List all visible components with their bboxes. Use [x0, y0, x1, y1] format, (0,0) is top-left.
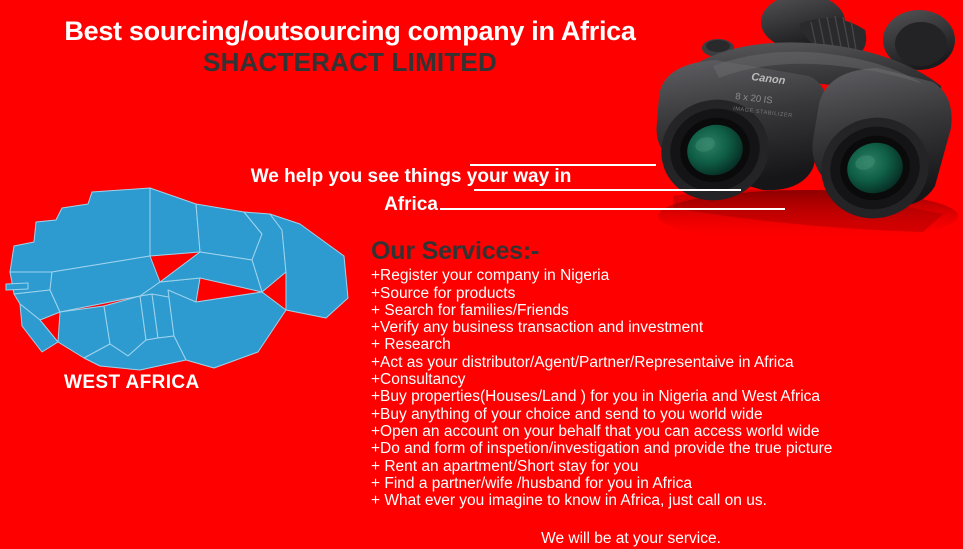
- service-item: + What ever you imagine to know in Afric…: [371, 492, 951, 509]
- service-item: +Buy anything of your choice and send to…: [371, 406, 951, 423]
- service-item: +Act as your distributor/Agent/Partner/R…: [371, 354, 951, 371]
- service-item: + Find a partner/wife /husband for you i…: [371, 475, 951, 492]
- tagline: We help you see things your way in Afric…: [236, 163, 586, 218]
- services-section: Our Services:- +Register your company in…: [371, 238, 951, 509]
- service-item: +Verify any business transaction and inv…: [371, 319, 951, 336]
- image-stabilizer-text: IMAGE STABILIZER: [733, 106, 793, 119]
- service-item: + Rent an apartment/Short stay for you: [371, 458, 951, 475]
- footer-note: We will be at your service.: [371, 530, 891, 548]
- map-label: WEST AFRICA: [64, 372, 200, 394]
- service-item: +Register your company in Nigeria: [371, 267, 951, 284]
- canon-brand-text: Canon: [751, 71, 787, 87]
- service-item: +Consultancy: [371, 371, 951, 388]
- service-item: + Research: [371, 336, 951, 353]
- service-item: +Do and form of inspetion/investigation …: [371, 440, 951, 457]
- headline: Best sourcing/outsourcing company in Afr…: [0, 16, 700, 47]
- company-name: SHACTERACT LIMITED: [0, 48, 700, 78]
- advert-poster: Best sourcing/outsourcing company in Afr…: [0, 0, 963, 549]
- services-list: +Register your company in Nigeria+Source…: [371, 267, 951, 509]
- model-text: 8 x 20 IS: [735, 91, 774, 106]
- service-item: +Source for products: [371, 285, 951, 302]
- service-item: + Search for families/Friends: [371, 302, 951, 319]
- services-heading: Our Services:-: [371, 238, 951, 264]
- service-item: +Open an account on your behalf that you…: [371, 423, 951, 440]
- service-item: +Buy properties(Houses/Land ) for you in…: [371, 388, 951, 405]
